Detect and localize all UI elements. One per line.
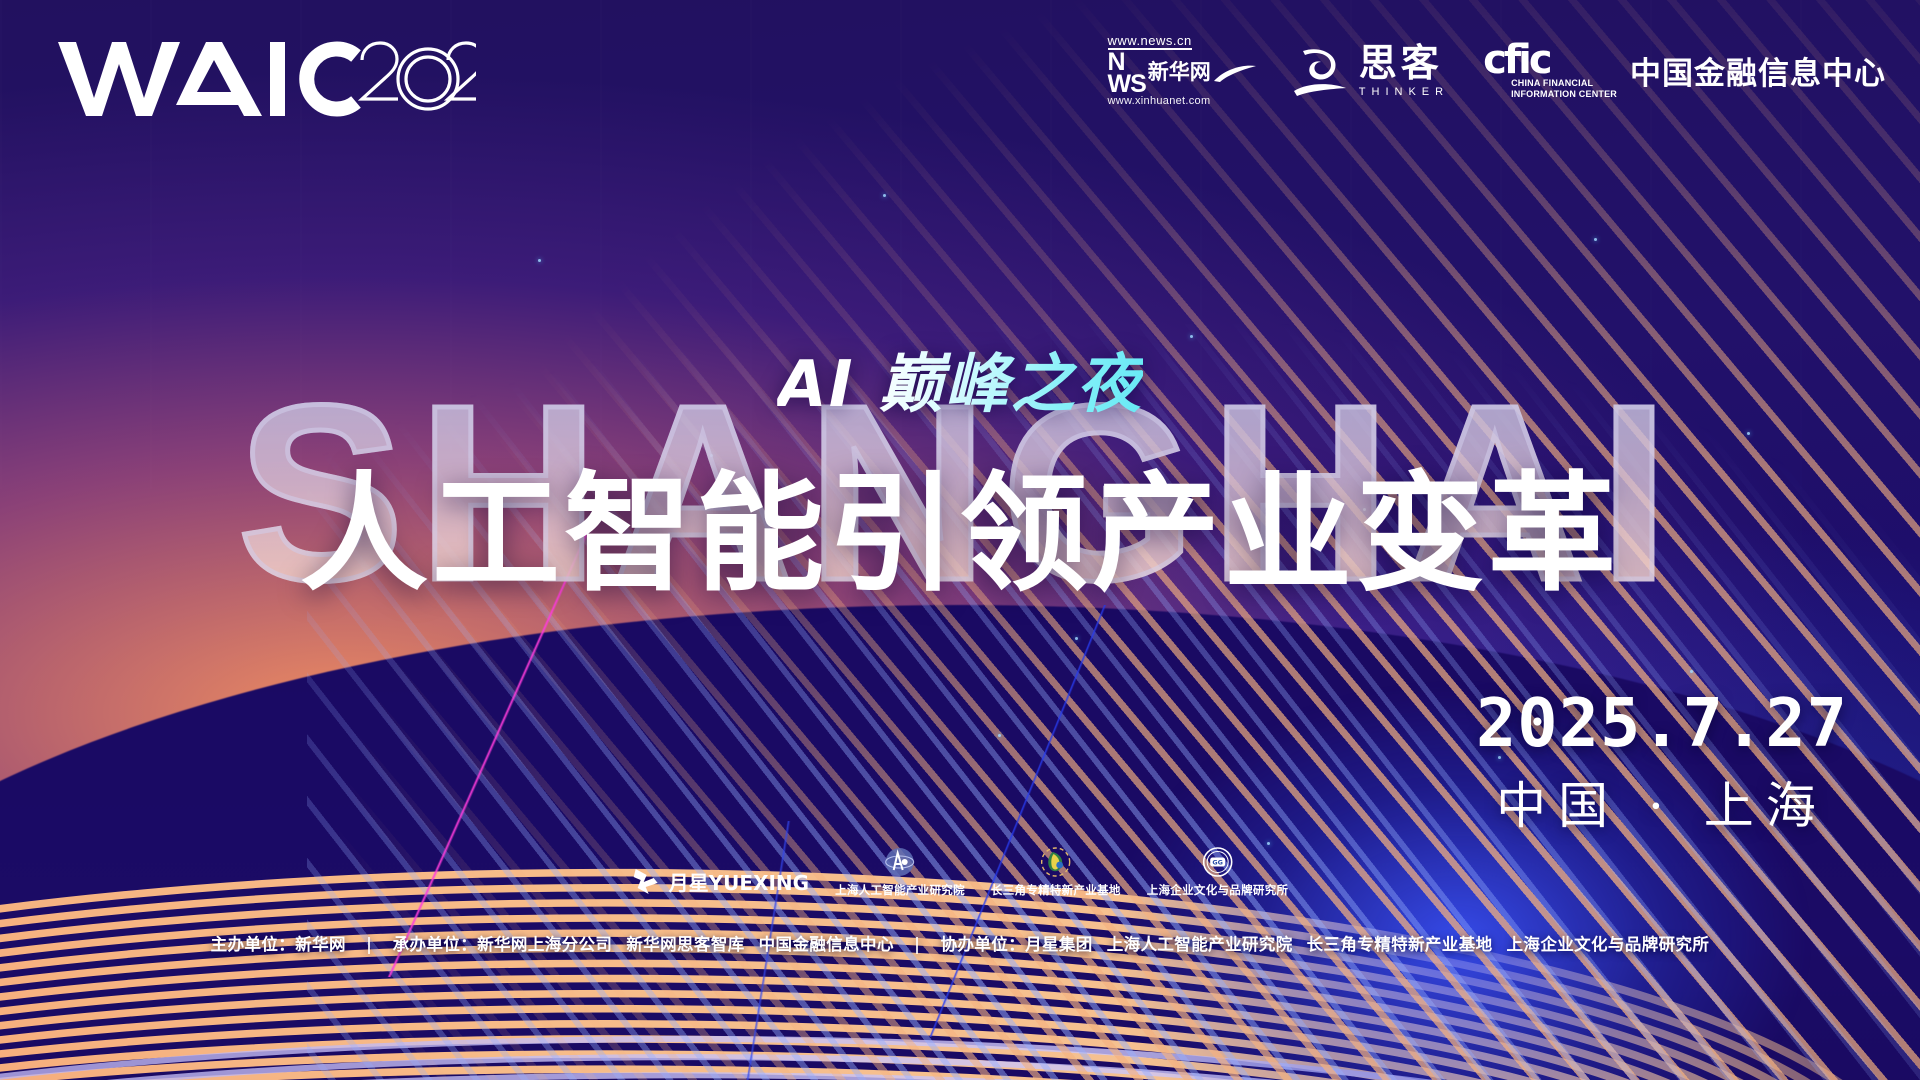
- cfic-name-cn: 中国金融信息中心: [1630, 48, 1886, 93]
- credits-coorganizer-label: 协办单位：: [941, 935, 1026, 954]
- credits-coorganizer-1: 上海人工智能产业研究院: [1107, 935, 1293, 954]
- event-subtitle: AI 巅峰之夜: [777, 333, 1143, 425]
- credits-coorganizer-0: 月星集团: [1025, 935, 1093, 954]
- xinhuanet-mark-ws: WS: [1108, 73, 1146, 95]
- yrd-base-emblem-icon: [1040, 845, 1072, 879]
- secbri-name: 上海企业文化与品牌研究所: [1147, 882, 1289, 898]
- sponsor-saiiri: 上海人工智能产业研究院: [835, 845, 965, 898]
- svg-text:GG: GG: [1212, 859, 1223, 867]
- credits-line: 主办单位：新华网 | 承办单位：新华网上海分公司新华网思客智库中国金融信息中心 …: [0, 931, 1920, 955]
- partner-logo-group: www.news.cn N WS 新华网 www.xinhuanet.com: [1108, 34, 1887, 107]
- cfic-mark: cfic: [1483, 42, 1617, 78]
- credits-coorganizer-3: 上海企业文化与品牌研究所: [1507, 935, 1710, 954]
- thinker-name-cn: 思客: [1359, 44, 1449, 82]
- cfic-sub-line1: CHINA FINANCIAL: [1511, 78, 1617, 88]
- thinker-name-en: THINKER: [1359, 86, 1449, 98]
- secbri-seal-icon: GG: [1202, 845, 1234, 879]
- logo-xinhuanet: www.news.cn N WS 新华网 www.xinhuanet.com: [1108, 34, 1257, 107]
- yrd-base-name: 长三角专精特新产业基地: [991, 882, 1121, 898]
- xinhuanet-news-mark: N WS: [1108, 51, 1146, 95]
- credits-organizer-label: 承办单位：: [393, 935, 478, 954]
- credits-host-label: 主办单位：: [211, 935, 296, 954]
- credits-separator-1: |: [366, 935, 372, 954]
- poster-canvas: SHANGHAI www.n: [0, 0, 1920, 1080]
- credits-organizer-1: 新华网思客智库: [626, 935, 744, 954]
- event-location: 中国 · 上海: [1476, 781, 1848, 831]
- thinker-wave-icon: [1291, 45, 1349, 97]
- credits-host-value: 新华网: [295, 935, 346, 954]
- poster-header: www.news.cn N WS 新华网 www.xinhuanet.com: [0, 0, 1920, 150]
- yuexing-star-icon: [632, 864, 662, 898]
- sponsor-yuexing: 月星YUEXING: [632, 864, 809, 898]
- sponsor-secbri: GG 上海企业文化与品牌研究所: [1147, 845, 1289, 898]
- event-main-title: 人工智能引领产业变革: [300, 430, 1620, 615]
- credits-separator-2: |: [914, 935, 920, 954]
- saiiri-name: 上海人工智能产业研究院: [835, 882, 965, 898]
- xinhuanet-url-bottom: www.xinhuanet.com: [1108, 96, 1211, 107]
- sponsor-logo-strip: 月星YUEXING 上海人工智能产业研究院: [632, 845, 1289, 898]
- event-date: 2025.7.27: [1476, 690, 1848, 757]
- saiiri-globe-icon: [884, 845, 916, 879]
- credits-organizer-0: 新华网上海分公司: [477, 935, 612, 954]
- waic-logo: [56, 36, 476, 120]
- logo-cfic: cfic CHINA FINANCIAL INFORMATION CENTER …: [1483, 42, 1886, 98]
- yuexing-name: 月星YUEXING: [669, 867, 809, 896]
- xinhuanet-name-cn: 新华网: [1148, 62, 1211, 83]
- logo-thinker: 思客 THINKER: [1291, 44, 1449, 98]
- swoosh-icon: [1213, 63, 1257, 83]
- event-date-block: 2025.7.27 中国 · 上海: [1476, 690, 1848, 831]
- cfic-sub-line2: INFORMATION CENTER: [1511, 89, 1617, 99]
- sponsor-yrd-base: 长三角专精特新产业基地: [991, 845, 1121, 898]
- credits-coorganizer-2: 长三角专精特新产业基地: [1307, 935, 1493, 954]
- credits-organizer-2: 中国金融信息中心: [759, 935, 894, 954]
